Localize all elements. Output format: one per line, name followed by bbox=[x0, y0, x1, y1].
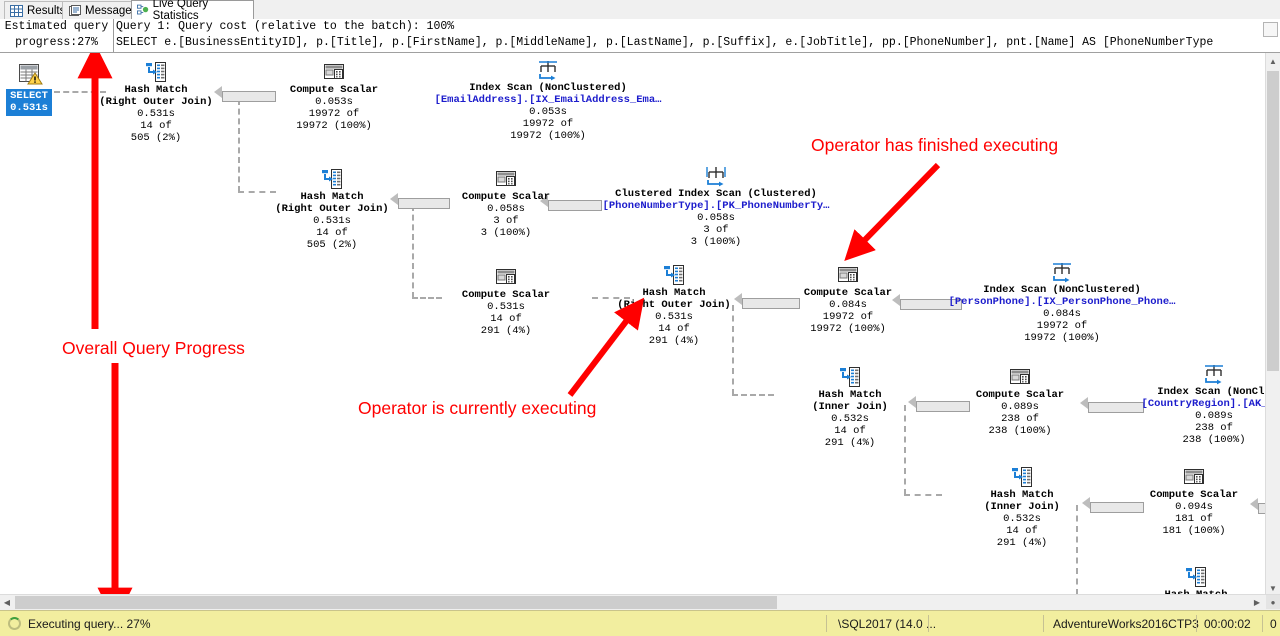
grid-icon bbox=[10, 5, 23, 17]
operator-duration: 0.089s bbox=[1114, 410, 1266, 422]
status-divider bbox=[1196, 615, 1197, 632]
operator-rows-actual: 19972 of bbox=[944, 320, 1180, 332]
operator-duration: 0.089s bbox=[962, 401, 1078, 413]
operator-node-compute-scalar-1[interactable]: Compute Scalar 0.053s 19972 of 19972 (10… bbox=[276, 61, 392, 132]
progress-spinner-icon bbox=[8, 617, 21, 630]
operator-duration: 0.058s bbox=[598, 212, 834, 224]
operator-name: Index Scan (NonClustered) bbox=[944, 284, 1180, 296]
select-operator-node[interactable]: SELECT 0.531s bbox=[6, 63, 52, 116]
operator-node-index-scan-countryregion[interactable]: Index Scan (NonClu [CountryRegion].[AK_C… bbox=[1114, 363, 1266, 446]
status-server: \SQL2017 (14.0 ... bbox=[838, 611, 936, 636]
scroll-right-icon[interactable]: ▶ bbox=[1250, 595, 1264, 609]
vertical-scrollbar-thumb[interactable] bbox=[1267, 71, 1279, 371]
hash-match-icon bbox=[1011, 466, 1033, 488]
operator-rows-estimated: 3 (100%) bbox=[448, 227, 564, 239]
connector-dashed bbox=[238, 191, 276, 193]
operator-node-compute-scalar-5[interactable]: Compute Scalar 0.089s 238 of 238 (100%) bbox=[962, 366, 1078, 437]
operator-subtitle: (Right Outer Join) bbox=[272, 203, 392, 215]
execution-plan-canvas[interactable]: SELECT 0.531s Hash Match bbox=[0, 53, 1266, 596]
operator-rows-estimated: 181 (100%) bbox=[1136, 525, 1252, 537]
status-database: AdventureWorks2016CTP3 bbox=[1053, 611, 1199, 636]
operator-rows-actual: 238 of bbox=[962, 413, 1078, 425]
operator-duration: 0.084s bbox=[944, 308, 1180, 320]
operator-rows-estimated: 19972 (100%) bbox=[790, 323, 906, 335]
clustered-index-scan-icon bbox=[705, 165, 727, 187]
operator-rows-estimated: 19972 (100%) bbox=[276, 120, 392, 132]
tab-results-label: Results bbox=[27, 5, 65, 17]
operator-name: Index Scan (NonClu bbox=[1114, 386, 1266, 398]
compute-scalar-icon bbox=[1183, 466, 1205, 488]
annotation-arrow-executing-icon bbox=[514, 305, 644, 405]
operator-rows-actual: 19972 of bbox=[430, 118, 666, 130]
operator-node-compute-scalar-4[interactable]: Compute Scalar 0.084s 19972 of 19972 (10… bbox=[790, 264, 906, 335]
results-pane-tabstrip: Results Messages Live Query Statistics bbox=[0, 0, 1280, 20]
operator-object: [PersonPhone].[IX_PersonPhone_Phone… bbox=[944, 296, 1180, 308]
operator-duration: 0.531s bbox=[272, 215, 392, 227]
operator-name: Hash Match bbox=[962, 489, 1082, 501]
index-scan-icon bbox=[537, 59, 559, 81]
operator-rows-estimated: 291 (4%) bbox=[790, 437, 910, 449]
operator-rows-actual: 19972 of bbox=[790, 311, 906, 323]
estimated-progress-value: progress:27% bbox=[0, 35, 113, 51]
status-executing-group: Executing query... 27% bbox=[8, 611, 151, 636]
operator-duration: 0.053s bbox=[276, 96, 392, 108]
horizontal-scrollbar[interactable]: ◀ ▶ ● bbox=[0, 594, 1280, 610]
operator-object: [EmailAddress].[IX_EmailAddress_Ema… bbox=[430, 94, 666, 106]
estimated-query-progress-box: Estimated query progress:27% bbox=[0, 19, 114, 52]
operator-rows-actual: 14 of bbox=[790, 425, 910, 437]
status-bar: Executing query... 27% \SQL2017 (14.0 ..… bbox=[0, 610, 1280, 636]
query-cost-line: Query 1: Query cost (relative to the bat… bbox=[116, 19, 1280, 35]
operator-duration: 0.094s bbox=[1136, 501, 1252, 513]
operator-rows-estimated: 238 (100%) bbox=[962, 425, 1078, 437]
tab-live-query-statistics[interactable]: Live Query Statistics bbox=[131, 0, 254, 19]
operator-subtitle: (Inner Join) bbox=[962, 501, 1082, 513]
tab-messages-label: Messages bbox=[85, 5, 137, 17]
status-divider bbox=[1262, 615, 1263, 632]
connector-arrowhead-icon bbox=[1080, 397, 1088, 409]
hash-match-icon bbox=[145, 61, 167, 83]
index-scan-icon bbox=[1203, 363, 1225, 385]
hash-match-icon bbox=[1185, 566, 1207, 588]
operator-rows-estimated: 238 (100%) bbox=[1114, 434, 1266, 446]
status-divider bbox=[1043, 615, 1044, 632]
operator-node-hash-match-6[interactable]: Hash Match bbox=[1136, 566, 1256, 596]
operator-name: Compute Scalar bbox=[790, 287, 906, 299]
header-collapse-button[interactable] bbox=[1263, 22, 1278, 37]
select-operator-label: SELECT bbox=[6, 90, 52, 102]
status-row-count: 0 rows bbox=[1270, 611, 1280, 636]
status-divider bbox=[928, 615, 929, 632]
hash-match-icon bbox=[839, 366, 861, 388]
compute-scalar-icon bbox=[495, 266, 517, 288]
live-stats-icon bbox=[137, 4, 149, 16]
operator-node-hash-match-4[interactable]: Hash Match (Inner Join) 0.532s 14 of 291… bbox=[790, 366, 910, 449]
operator-node-index-scan-emailaddress[interactable]: Index Scan (NonClustered) [EmailAddress]… bbox=[430, 59, 666, 142]
operator-duration: 0.053s bbox=[430, 106, 666, 118]
operator-node-compute-scalar-2[interactable]: Compute Scalar 0.058s 3 of 3 (100%) bbox=[448, 168, 564, 239]
operator-rows-actual: 238 of bbox=[1114, 422, 1266, 434]
operator-duration: 0.058s bbox=[448, 203, 564, 215]
scroll-left-icon[interactable]: ◀ bbox=[0, 595, 14, 609]
horizontal-scrollbar-thumb[interactable] bbox=[15, 596, 777, 609]
compute-scalar-icon bbox=[1009, 366, 1031, 388]
operator-rows-actual: 181 of bbox=[1136, 513, 1252, 525]
annotation-arrow-progress-up-icon bbox=[80, 53, 120, 349]
select-result-icon bbox=[15, 63, 43, 89]
hash-match-icon bbox=[321, 168, 343, 190]
message-icon bbox=[68, 5, 81, 17]
operator-node-clustered-index-scan-phonenumbertype[interactable]: Clustered Index Scan (Clustered) [PhoneN… bbox=[598, 165, 834, 248]
annotation-arrow-progress-down-icon bbox=[100, 363, 140, 596]
operator-rows-actual: 3 of bbox=[598, 224, 834, 236]
operator-name: Hash Match bbox=[790, 389, 910, 401]
query-plan-header: Estimated query progress:27% Query 1: Qu… bbox=[0, 19, 1280, 53]
operator-rows-actual: 3 of bbox=[448, 215, 564, 227]
operator-name: Compute Scalar bbox=[448, 191, 564, 203]
operator-rows-actual: 14 of bbox=[962, 525, 1082, 537]
operator-rows-estimated: 505 (2%) bbox=[272, 239, 392, 251]
operator-name: Index Scan (NonClustered) bbox=[430, 82, 666, 94]
operator-name: Hash Match bbox=[614, 287, 734, 299]
connector-dashed bbox=[412, 205, 414, 298]
compute-scalar-icon bbox=[323, 61, 345, 83]
estimated-progress-label: Estimated query bbox=[0, 19, 113, 35]
operator-name: Compute Scalar bbox=[962, 389, 1078, 401]
connector-dashed bbox=[412, 297, 442, 299]
vertical-scrollbar[interactable]: ▲ ▼ bbox=[1265, 53, 1280, 596]
connector-solid bbox=[222, 91, 276, 102]
operator-name: Compute Scalar bbox=[448, 289, 564, 301]
operator-duration: 0.532s bbox=[962, 513, 1082, 525]
query-text-block: Query 1: Query cost (relative to the bat… bbox=[116, 19, 1280, 52]
index-scan-icon bbox=[1051, 261, 1073, 283]
operator-rows-estimated: 291 (4%) bbox=[962, 537, 1082, 549]
connector-arrowhead-icon bbox=[1082, 497, 1090, 509]
operator-rows-actual: 14 of bbox=[272, 227, 392, 239]
connector-dashed bbox=[732, 394, 774, 396]
operator-duration: 0.532s bbox=[790, 413, 910, 425]
zoom-control-icon[interactable]: ● bbox=[1266, 595, 1280, 609]
operator-node-hash-match-2[interactable]: Hash Match (Right Outer Join) 0.531s 14 … bbox=[272, 168, 392, 251]
operator-object: [CountryRegion].[AK_Cou bbox=[1114, 398, 1266, 410]
operator-object: [PhoneNumberType].[PK_PhoneNumberTy… bbox=[598, 200, 834, 212]
operator-rows-estimated: 19972 (100%) bbox=[430, 130, 666, 142]
operator-rows-actual: 19972 of bbox=[276, 108, 392, 120]
operator-rows-estimated: 3 (100%) bbox=[598, 236, 834, 248]
connector-dashed bbox=[238, 99, 240, 192]
compute-scalar-icon bbox=[495, 168, 517, 190]
operator-rows-estimated: 19972 (100%) bbox=[944, 332, 1180, 344]
query-sql-line: SELECT e.[BusinessEntityID], p.[Title], … bbox=[116, 35, 1280, 51]
connector-solid bbox=[398, 198, 450, 209]
connector-arrowhead-icon bbox=[734, 293, 742, 305]
connector-dashed bbox=[904, 494, 942, 496]
operator-node-hash-match-5[interactable]: Hash Match (Inner Join) 0.532s 14 of 291… bbox=[962, 466, 1082, 549]
operator-node-index-scan-personphone[interactable]: Index Scan (NonClustered) [PersonPhone].… bbox=[944, 261, 1180, 344]
annotation-arrow-finished-icon bbox=[840, 161, 950, 271]
operator-name: Clustered Index Scan (Clustered) bbox=[598, 188, 834, 200]
status-elapsed-time: 00:00:02 bbox=[1204, 611, 1251, 636]
operator-subtitle: (Inner Join) bbox=[790, 401, 910, 413]
status-executing-text: Executing query... 27% bbox=[28, 617, 151, 631]
select-operator-duration: 0.531s bbox=[6, 102, 52, 114]
operator-node-compute-scalar-6[interactable]: Compute Scalar 0.094s 181 of 181 (100%) bbox=[1136, 466, 1252, 537]
status-divider bbox=[826, 615, 827, 632]
operator-name: Hash Match bbox=[272, 191, 392, 203]
hash-match-icon bbox=[663, 264, 685, 286]
annotation-operator-finished: Operator has finished executing bbox=[811, 135, 1058, 156]
scroll-up-icon[interactable]: ▲ bbox=[1266, 53, 1280, 69]
operator-name: Compute Scalar bbox=[276, 84, 392, 96]
operator-duration: 0.084s bbox=[790, 299, 906, 311]
operator-name: Compute Scalar bbox=[1136, 489, 1252, 501]
